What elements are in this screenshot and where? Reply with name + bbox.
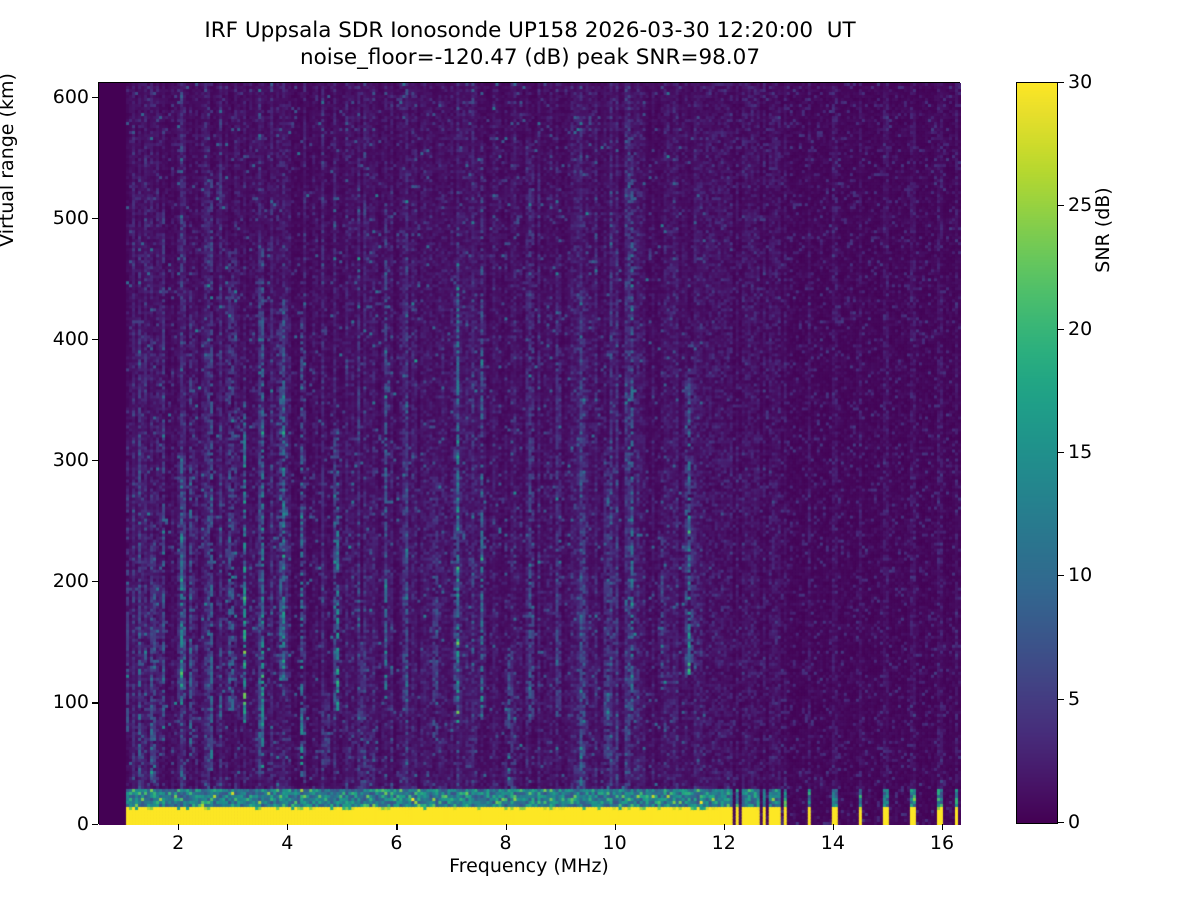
y-tick-mark [92, 218, 98, 219]
colorbar-tick-mark [1058, 575, 1064, 576]
x-tick-label: 14 [793, 832, 873, 854]
y-tick-mark [92, 339, 98, 340]
x-tick-mark [833, 824, 834, 830]
colorbar-tick-label: 0 [1068, 811, 1080, 833]
y-tick-label: 600 [0, 86, 89, 108]
colorbar-tick-label: 20 [1068, 318, 1092, 340]
y-tick-label: 300 [0, 449, 89, 471]
x-tick-mark [287, 824, 288, 830]
title-line-2: noise_floor=-120.47 (dB) peak SNR=98.07 [0, 45, 1060, 72]
y-axis-label: Virtual range (km) [0, 10, 18, 310]
x-tick-label: 6 [356, 832, 436, 854]
x-tick-mark [615, 824, 616, 830]
ionogram-heatmap [99, 83, 961, 825]
colorbar [1016, 82, 1058, 824]
x-tick-label: 12 [684, 832, 764, 854]
colorbar-tick-label: 25 [1068, 194, 1092, 216]
x-tick-mark [506, 824, 507, 830]
colorbar-tick-mark [1058, 699, 1064, 700]
colorbar-tick-label: 15 [1068, 441, 1092, 463]
x-tick-mark [942, 824, 943, 830]
colorbar-tick-mark [1058, 822, 1064, 823]
colorbar-tick-label: 10 [1068, 564, 1092, 586]
y-tick-label: 500 [0, 207, 89, 229]
figure-title: IRF Uppsala SDR Ionosonde UP158 2026-03-… [0, 18, 1060, 71]
colorbar-tick-mark [1058, 205, 1064, 206]
colorbar-tick-mark [1058, 82, 1064, 83]
title-line-1: IRF Uppsala SDR Ionosonde UP158 2026-03-… [0, 18, 1060, 45]
ionogram-figure: IRF Uppsala SDR Ionosonde UP158 2026-03-… [0, 0, 1200, 900]
x-tick-label: 16 [902, 832, 982, 854]
y-tick-mark [92, 702, 98, 703]
y-tick-label: 200 [0, 570, 89, 592]
y-tick-mark [92, 581, 98, 582]
y-tick-label: 100 [0, 691, 89, 713]
x-tick-label: 8 [466, 832, 546, 854]
colorbar-tick-label: 30 [1068, 71, 1092, 93]
colorbar-gradient [1017, 83, 1057, 823]
y-tick-mark [92, 97, 98, 98]
x-axis-label: Frequency (MHz) [98, 855, 960, 877]
plot-area [98, 82, 960, 824]
y-tick-mark [92, 824, 98, 825]
colorbar-tick-mark [1058, 329, 1064, 330]
x-tick-label: 2 [138, 832, 218, 854]
x-tick-mark [724, 824, 725, 830]
colorbar-tick-label: 5 [1068, 688, 1080, 710]
colorbar-tick-mark [1058, 452, 1064, 453]
x-tick-mark [178, 824, 179, 830]
y-tick-label: 0 [0, 813, 89, 835]
colorbar-label: SNR (dB) [1092, 100, 1114, 360]
y-tick-mark [92, 460, 98, 461]
x-tick-mark [396, 824, 397, 830]
x-tick-label: 10 [575, 832, 655, 854]
x-tick-label: 4 [247, 832, 327, 854]
y-tick-label: 400 [0, 328, 89, 350]
